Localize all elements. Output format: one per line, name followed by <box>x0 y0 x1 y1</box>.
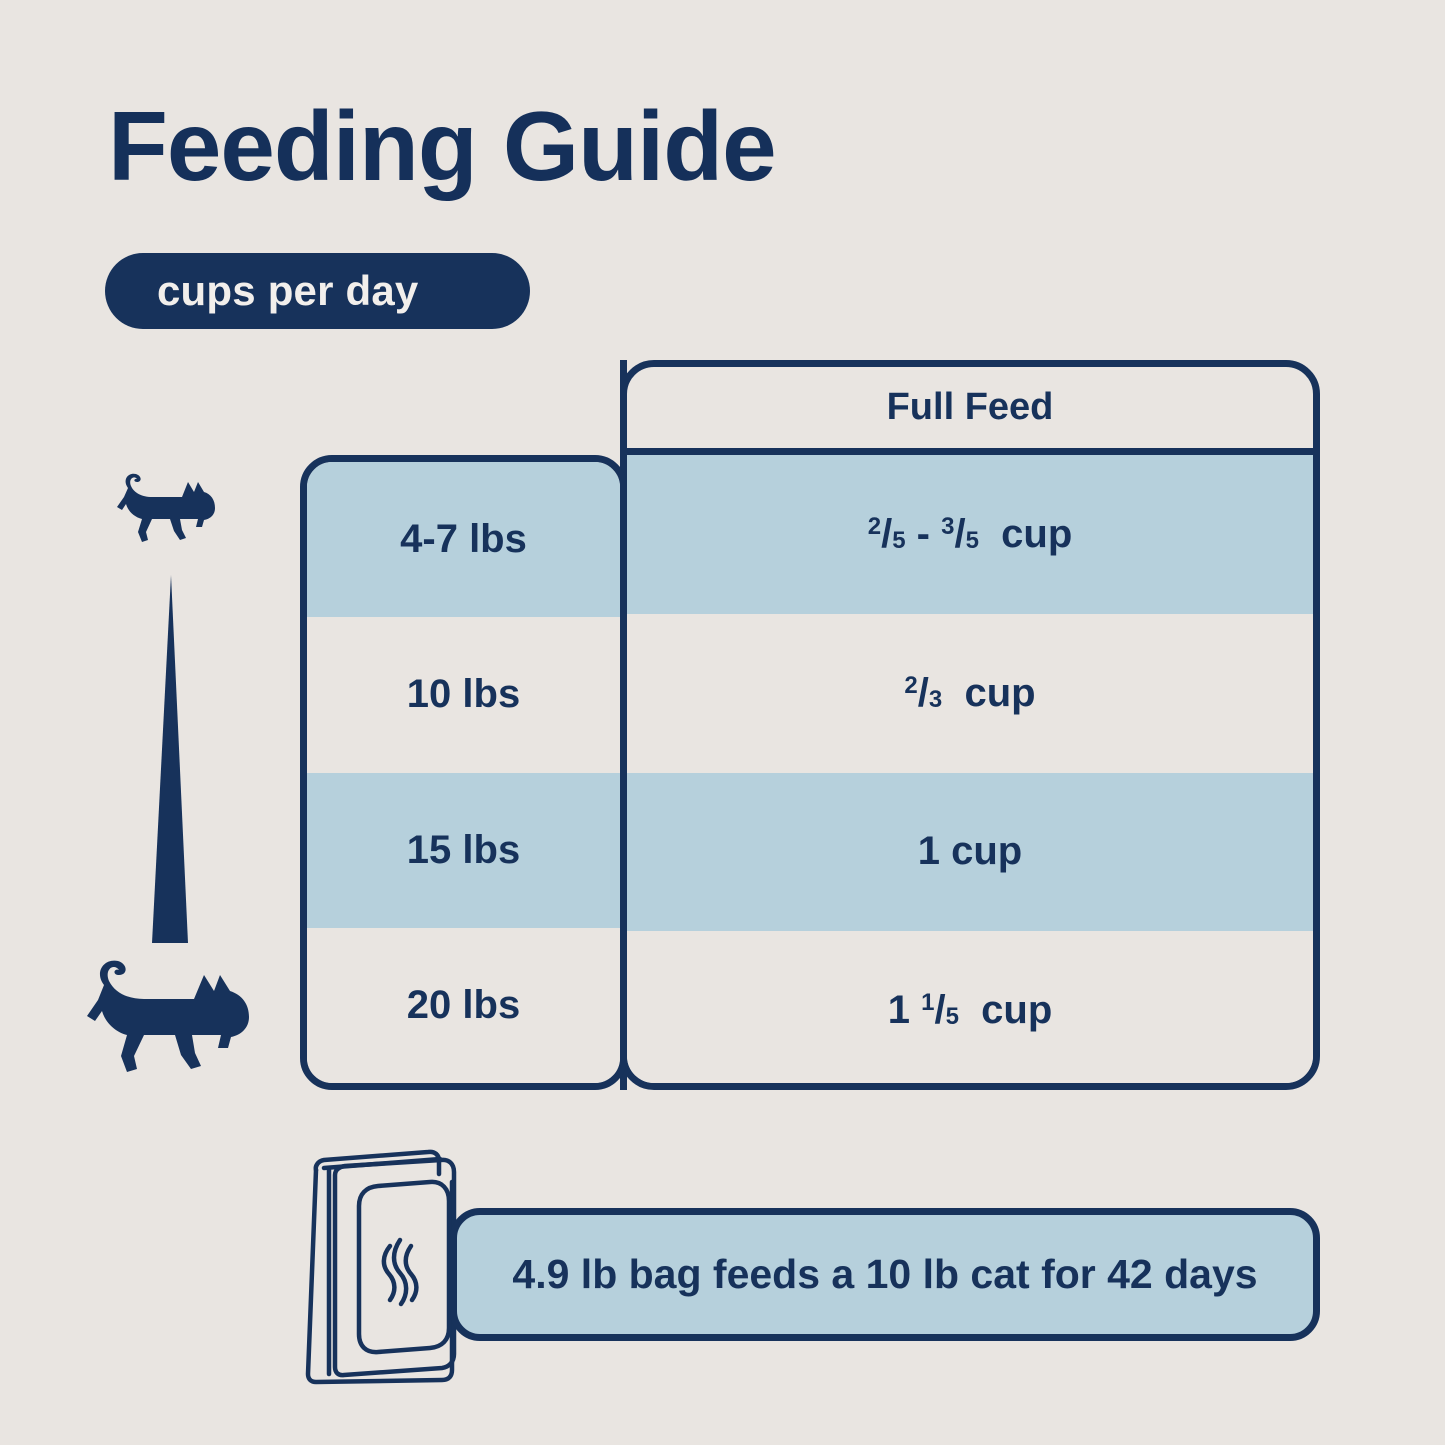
units-pill-label: cups per day <box>157 267 419 315</box>
weight-cell: 10 lbs <box>307 617 620 772</box>
feed-column-header: Full Feed <box>627 367 1313 455</box>
feed-cell: 1 1/5 cup <box>627 931 1313 1090</box>
weight-label-row-4: 20 lbs <box>407 983 520 1028</box>
unit-label: cup <box>964 671 1035 715</box>
feeding-guide-infographic: Feeding Guide cups per day Full Feed <box>0 0 1445 1445</box>
weight-cell: 20 lbs <box>307 928 620 1083</box>
range-separator: - <box>906 512 942 556</box>
feed-amount-row-2: 2/3 cup <box>904 671 1035 716</box>
feeding-table: Full Feed 2/5 - 3/5 cup 2/3 cup 1 cup <box>300 360 1320 1092</box>
fraction-numerator: 1 <box>921 989 934 1016</box>
feed-cell: 2/5 - 3/5 cup <box>627 455 1313 614</box>
size-scale-wedge-icon <box>140 575 206 943</box>
feed-cell: 2/3 cup <box>627 614 1313 773</box>
feed-cell: 1 cup <box>627 773 1313 932</box>
fraction-numerator: 2 <box>868 513 881 540</box>
weight-label-row-1: 4-7 lbs <box>400 517 527 562</box>
whole-number: 1 <box>888 988 910 1032</box>
weight-panel: 4-7 lbs 10 lbs 15 lbs 20 lbs <box>300 455 627 1090</box>
feed-amount-row-1: 2/5 - 3/5 cup <box>868 512 1073 557</box>
feed-panel: Full Feed 2/5 - 3/5 cup 2/3 cup 1 cup <box>620 360 1320 1090</box>
fraction-denominator: 3 <box>929 686 942 713</box>
feed-column-header-label: Full Feed <box>887 386 1054 429</box>
fraction-numerator: 2 <box>904 671 917 698</box>
walking-cat-icon-large <box>78 955 260 1089</box>
feed-cells: 2/5 - 3/5 cup 2/3 cup 1 cup 1 1/5 cup <box>627 455 1313 1090</box>
weight-cells: 4-7 lbs 10 lbs 15 lbs 20 lbs <box>307 462 620 1083</box>
fraction-numerator: 3 <box>941 513 954 540</box>
walking-cat-icon-small <box>112 470 222 552</box>
unit-label: cup <box>1001 512 1072 556</box>
page-title: Feeding Guide <box>108 95 776 198</box>
weight-cell: 4-7 lbs <box>307 462 620 617</box>
feed-amount-row-3: 1 cup <box>918 829 1023 874</box>
whole-number: 1 <box>918 829 940 873</box>
unit-label: cup <box>951 829 1022 873</box>
weight-label-row-2: 10 lbs <box>407 672 520 717</box>
bag-duration-text: 4.9 lb bag feeds a 10 lb cat for 42 days <box>512 1251 1257 1298</box>
fraction-denominator: 5 <box>946 1003 959 1030</box>
fraction-denominator: 5 <box>966 527 979 554</box>
bag-duration-banner: 4.9 lb bag feeds a 10 lb cat for 42 days <box>450 1208 1320 1341</box>
weight-cell: 15 lbs <box>307 773 620 928</box>
weight-label-row-3: 15 lbs <box>407 828 520 873</box>
unit-label: cup <box>981 988 1052 1032</box>
feed-amount-row-4: 1 1/5 cup <box>888 988 1053 1033</box>
units-pill: cups per day <box>105 253 530 329</box>
fraction-denominator: 5 <box>892 527 905 554</box>
